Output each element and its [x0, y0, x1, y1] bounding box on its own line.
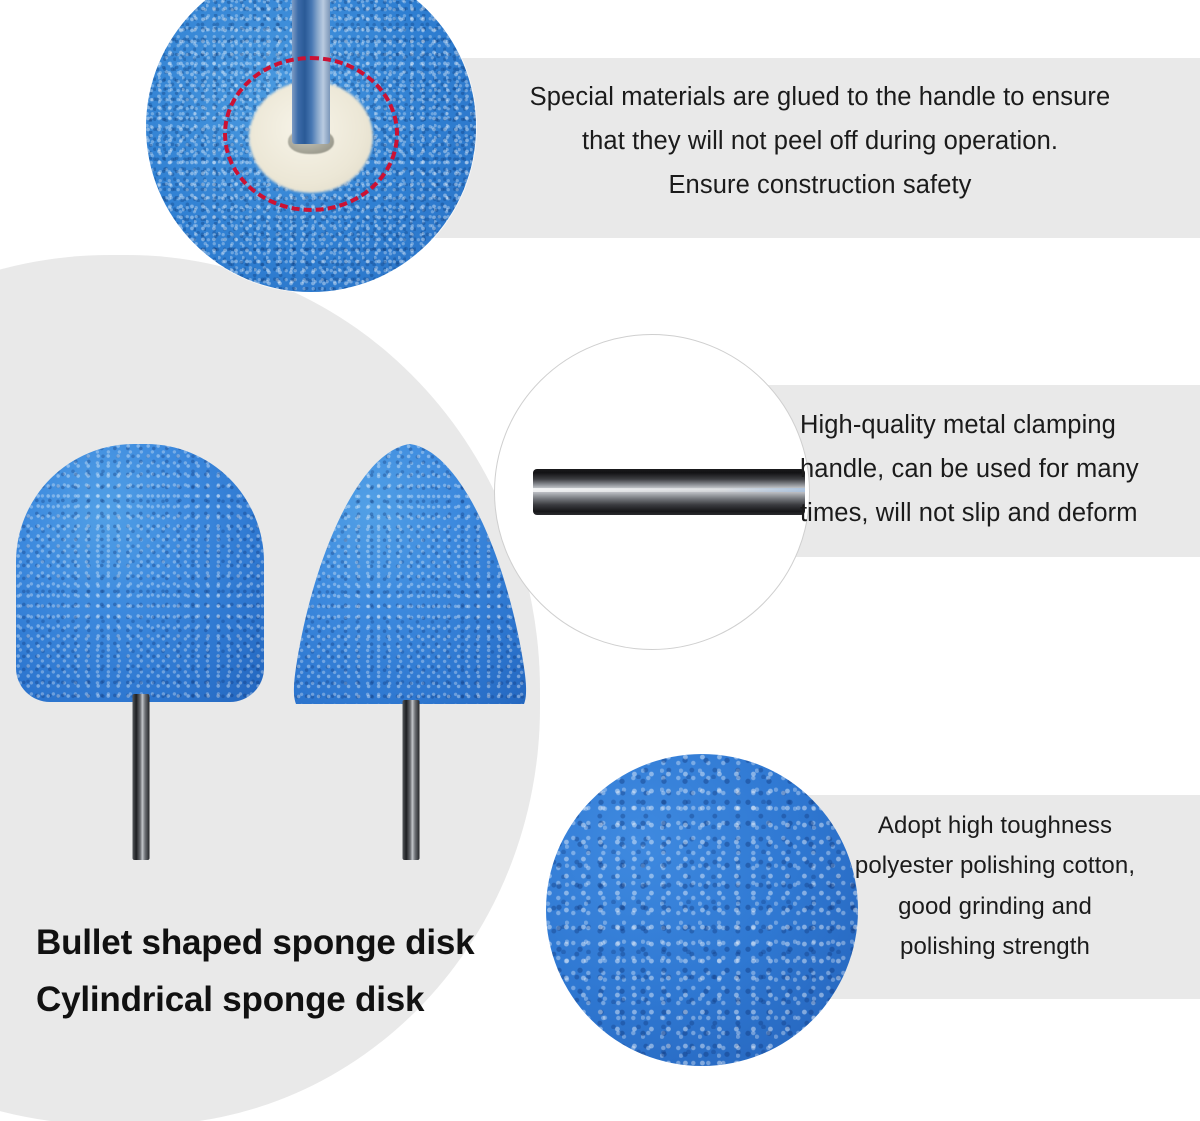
feature-text-line: High-quality metal clamping — [800, 404, 1200, 448]
feature-text-adhesion: Special materials are glued to the handl… — [470, 76, 1170, 208]
product-titles: Bullet shaped sponge disk Cylindrical sp… — [36, 915, 474, 1028]
bullet-sponge-shaft — [403, 700, 420, 860]
feature-text-material: Adopt high toughness polyester polishing… — [800, 806, 1190, 967]
feature-text-line: good grinding and — [800, 887, 1190, 927]
metal-rod — [533, 469, 805, 515]
feature-text-line: Ensure construction safety — [470, 164, 1170, 208]
feature-text-line: times, will not slip and deform — [800, 492, 1200, 536]
infographic-canvas: Special materials are glued to the handl… — [0, 0, 1200, 1121]
red-dashed-circle-annotation-icon — [223, 56, 399, 212]
disk-glue-detail-photo — [146, 0, 476, 292]
feature-text-line: handle, can be used for many — [800, 448, 1200, 492]
feature-text-line: polishing strength — [800, 927, 1190, 967]
feature-text-line: Adopt high toughness — [800, 806, 1190, 846]
feature-text-handle: High-quality metal clamping handle, can … — [800, 404, 1200, 536]
cylindrical-sponge-product-photo — [16, 444, 266, 864]
cylindrical-sponge-head — [16, 444, 264, 702]
metal-handle-photo — [494, 334, 810, 650]
feature-text-line: Special materials are glued to the handl… — [470, 76, 1170, 120]
product-title-bullet: Bullet shaped sponge disk — [36, 915, 474, 972]
feature-text-line: that they will not peel off during opera… — [470, 120, 1170, 164]
feature-text-line: polyester polishing cotton, — [800, 846, 1190, 886]
product-title-cylindrical: Cylindrical sponge disk — [36, 972, 474, 1029]
cylindrical-sponge-shaft — [133, 694, 150, 860]
